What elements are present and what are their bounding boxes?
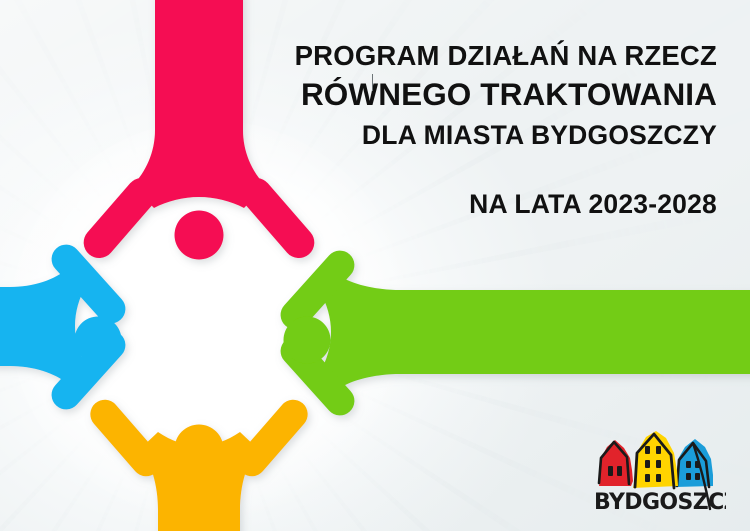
poster-canvas: PROGRAM DZIAŁAŃ NA RZECZ RÓWNEGO TRAKTOW… — [0, 0, 750, 531]
headline-line-2: RÓWNEGO TRAKTOWANIA — [277, 79, 717, 111]
figure-right-head — [284, 317, 331, 364]
figure-top-head — [175, 211, 224, 260]
figure-bottom — [84, 394, 313, 531]
headline-line-3: DLA MIASTA BYDGOSZCZY — [277, 122, 717, 149]
figure-bottom-head — [175, 425, 224, 474]
text-caret-artifact — [372, 74, 373, 91]
logo-house-red-icon — [599, 440, 633, 486]
headline-line-4: NA LATA 2023-2028 — [277, 191, 717, 218]
logo-house-yellow-icon — [633, 431, 678, 488]
figure-left — [0, 239, 131, 416]
figure-right-body — [320, 274, 750, 390]
figure-top-body — [132, 0, 266, 208]
headline-line-1: PROGRAM DZIAŁAŃ NA RZECZ — [277, 42, 717, 70]
figure-right — [275, 245, 750, 422]
logo-wordmark: BYDGOSZCZ — [594, 490, 726, 515]
headline-block: PROGRAM DZIAŁAŃ NA RZECZ RÓWNEGO TRAKTOW… — [277, 42, 717, 217]
figure-left-head — [75, 317, 122, 364]
figure-top-arm-left — [77, 172, 163, 265]
bydgoszcz-logo[interactable]: BYDGOSZCZ — [586, 431, 726, 519]
